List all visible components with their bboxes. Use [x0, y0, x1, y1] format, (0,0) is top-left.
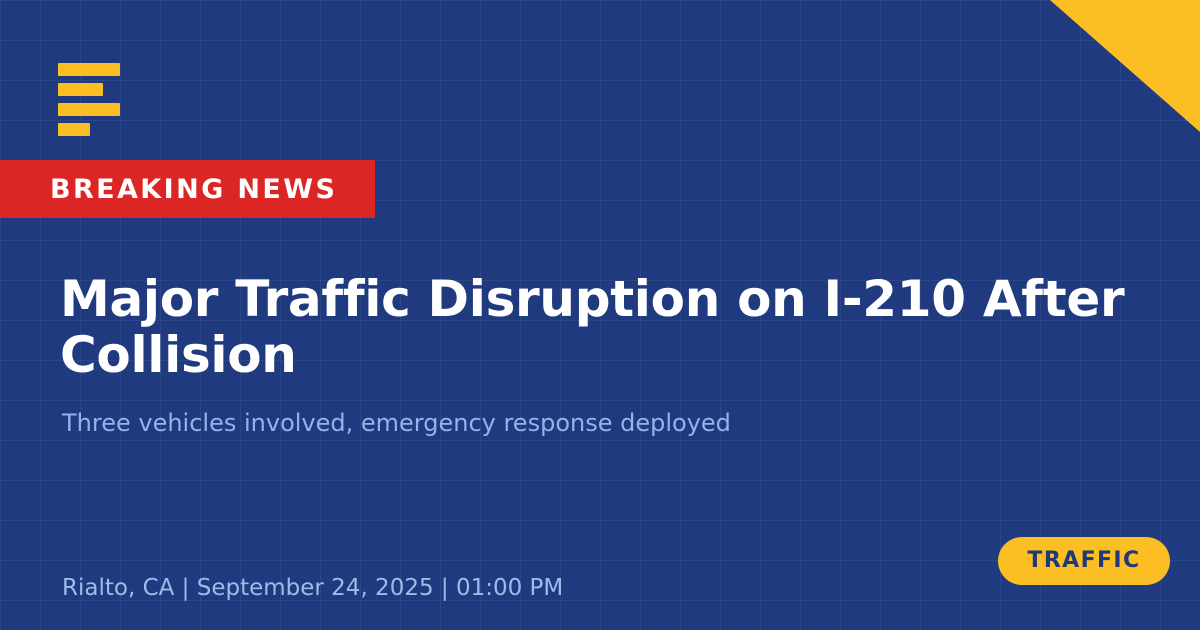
corner-triangle-decoration	[1050, 0, 1200, 132]
logo-bar-4	[58, 123, 90, 136]
breaking-news-card: BREAKING NEWS Major Traffic Disruption o…	[0, 0, 1200, 630]
logo-bar-2	[58, 83, 103, 96]
footer-meta-line: Rialto, CA | September 24, 2025 | 01:00 …	[62, 575, 563, 603]
category-pill-label: TRAFFIC	[1027, 550, 1140, 572]
breaking-news-badge: BREAKING NEWS	[0, 160, 375, 218]
logo-bar-1	[58, 63, 120, 76]
brand-logo	[58, 63, 148, 136]
subtitle-text: Three vehicles involved, emergency respo…	[62, 408, 1062, 439]
logo-bar-3	[58, 103, 120, 116]
headline-text: Major Traffic Disruption on I-210 After …	[60, 271, 1155, 384]
breaking-news-badge-label: BREAKING NEWS	[50, 176, 337, 203]
category-pill: TRAFFIC	[998, 537, 1170, 585]
